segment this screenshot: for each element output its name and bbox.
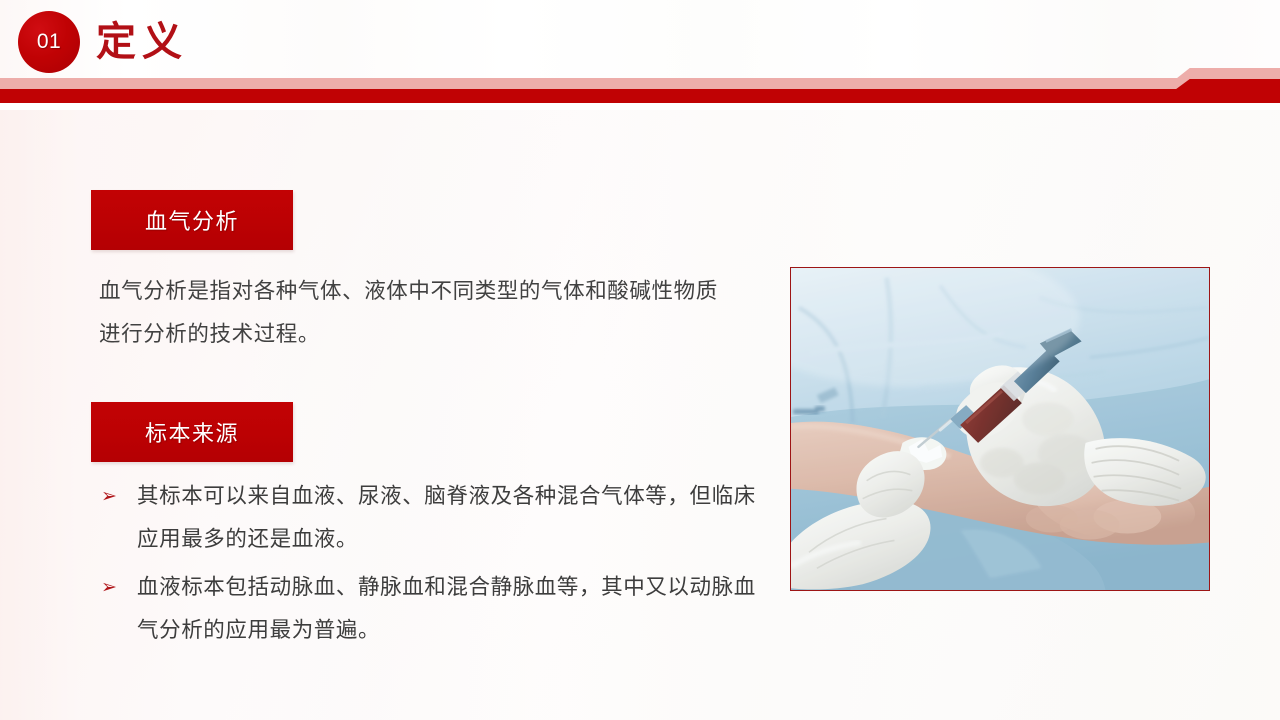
blood-draw-photo-graphic [791,268,1209,590]
header-background [0,0,1280,78]
section-number-badge: 01 [18,11,80,73]
slide-content: 血气分析 血气分析是指对各种气体、液体中不同类型的气体和酸碱性物质进行分析的技术… [0,110,1280,720]
header-band-pink-left [0,78,1183,89]
slide-canvas: 01 定义 血气分析 血气分析是指对各种气体、液体中不同类型的气体和酸碱性物质进… [0,0,1280,720]
section-tag-blood-gas: 血气分析 [91,190,293,250]
illustration-frame [790,267,1210,591]
blood-draw-photo [791,268,1209,590]
section-tag-specimen-source-label: 标本来源 [145,416,239,448]
list-item-text: 其标本可以来自血液、尿液、脑脊液及各种混合气体等，但临床应用最多的还是血液。 [137,484,756,552]
arrow-bullet-icon: ➢ [101,566,118,609]
section-tag-specimen-source: 标本来源 [91,402,293,462]
list-item-text: 血液标本包括动脉血、静脉血和混合静脉血等，其中又以动脉血气分析的应用最为普遍。 [137,575,756,643]
header-band-red-right [1190,79,1280,103]
section-tag-blood-gas-label: 血气分析 [145,204,239,236]
header-band-pink-right [1190,68,1280,79]
arrow-bullet-icon: ➢ [101,475,118,518]
definition-paragraph: 血气分析是指对各种气体、液体中不同类型的气体和酸碱性物质进行分析的技术过程。 [99,270,739,356]
list-item: ➢ 血液标本包括动脉血、静脉血和混合静脉血等，其中又以动脉血气分析的应用最为普遍… [101,566,771,652]
list-item: ➢ 其标本可以来自血液、尿液、脑脊液及各种混合气体等，但临床应用最多的还是血液。 [101,475,771,561]
section-number-label: 01 [37,30,61,54]
slide-header: 01 定义 [0,0,1280,110]
specimen-source-bullet-list: ➢ 其标本可以来自血液、尿液、脑脊液及各种混合气体等，但临床应用最多的还是血液。… [101,475,771,657]
page-title: 定义 [96,16,188,68]
header-band-red-left [0,89,1183,103]
